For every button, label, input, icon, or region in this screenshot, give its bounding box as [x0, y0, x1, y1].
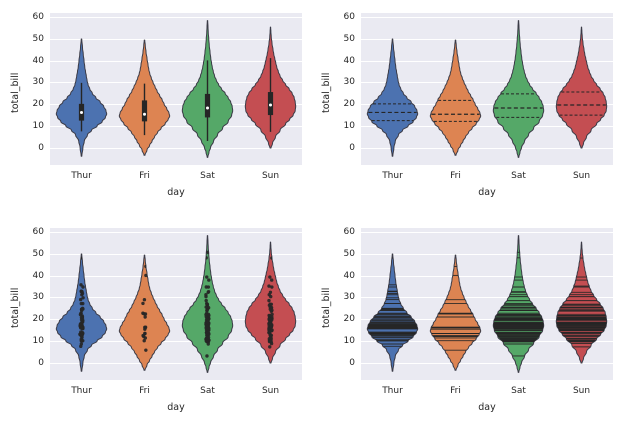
xtick-label-thur: Thur: [363, 386, 423, 396]
violin-thur: [367, 254, 417, 371]
xtick-label-sat: Sat: [489, 386, 549, 396]
violin-layer-bottom-right: [361, 228, 613, 380]
ytick-label-4: 40: [331, 271, 355, 281]
ytick-label-3: 30: [331, 292, 355, 302]
ytick-label-5: 50: [331, 249, 355, 259]
violin-sun: [556, 242, 606, 363]
ytick-label-1: 10: [331, 336, 355, 346]
violin-sat: [493, 236, 543, 373]
ytick-label-2: 20: [331, 314, 355, 324]
xtick-label-fri: Fri: [426, 386, 486, 396]
panel-bottom-right: 0102030405060ThurFriSatSundaytotal_bill: [0, 0, 622, 430]
violin-fri: [430, 255, 480, 370]
axes-area-bottom-right: [361, 228, 613, 380]
ytick-label-6: 60: [331, 227, 355, 237]
xtick-label-sun: Sun: [552, 386, 612, 396]
violin-plot-figure: 0102030405060ThurFriSatSundaytotal_bill0…: [0, 0, 622, 430]
xaxis-label-bottom-right: day: [361, 402, 613, 413]
yaxis-label-bottom-right: total_bill: [321, 288, 332, 328]
ytick-label-0: 0: [331, 358, 355, 368]
